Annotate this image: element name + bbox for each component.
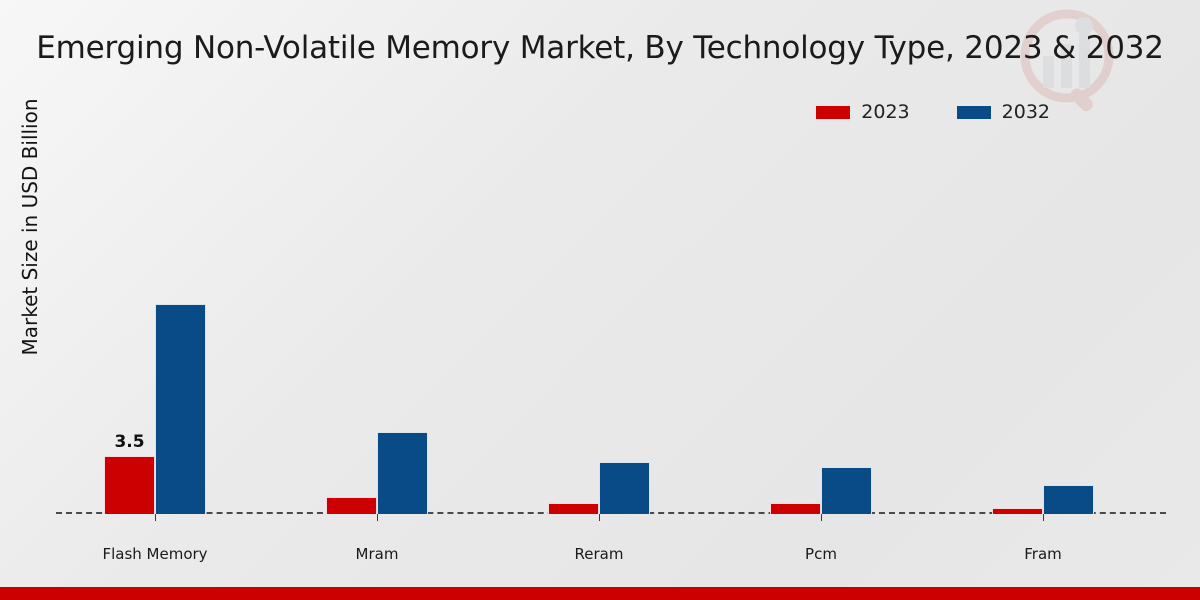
- bar-2023-reram[interactable]: [548, 503, 599, 514]
- x-axis-tick: [599, 514, 600, 521]
- bar-2032-reram[interactable]: [599, 462, 650, 514]
- bar-2023-mram[interactable]: [326, 497, 377, 514]
- x-axis-tick: [1043, 514, 1044, 521]
- bar-2032-fram[interactable]: [1043, 485, 1094, 514]
- bar-pair: [548, 462, 650, 514]
- x-axis-label-mram: Mram: [302, 545, 452, 564]
- x-axis-label-reram: Reram: [524, 545, 674, 564]
- legend-item-2023[interactable]: 2023: [816, 103, 909, 122]
- bar-2023-fram[interactable]: [992, 508, 1043, 514]
- bar-group-fram: Fram: [944, 150, 1166, 514]
- bar-pair: [992, 485, 1094, 514]
- bar-2023-pcm[interactable]: [770, 503, 821, 514]
- legend-item-2032[interactable]: 2032: [957, 103, 1050, 122]
- bar-2032-flash-memory[interactable]: [155, 304, 206, 514]
- bar-group-reram: Reram: [500, 150, 722, 514]
- bar-pair: [770, 467, 872, 514]
- chart-title: Emerging Non-Volatile Memory Market, By …: [0, 30, 1200, 66]
- bar-pair: [326, 432, 428, 514]
- legend-swatch-2023: [816, 106, 850, 119]
- bar-2032-pcm[interactable]: [821, 467, 872, 514]
- bar-pair: 3.5: [104, 304, 206, 514]
- bar-group-mram: Mram: [278, 150, 500, 514]
- bar-2023-flash-memory[interactable]: [104, 456, 155, 514]
- legend-label-2023: 2023: [861, 103, 909, 122]
- legend-swatch-2032: [957, 106, 991, 119]
- bar-group-pcm: Pcm: [722, 150, 944, 514]
- x-axis-label-fram: Fram: [968, 545, 1118, 564]
- x-axis-tick: [377, 514, 378, 521]
- x-axis-label-pcm: Pcm: [746, 545, 896, 564]
- bar-group-flash-memory: 3.5Flash Memory: [56, 150, 278, 514]
- plot-area: 3.5Flash MemoryMramReramPcmFram: [56, 150, 1166, 514]
- bar-value-label: 3.5: [104, 432, 155, 452]
- legend-label-2032: 2032: [1002, 103, 1050, 122]
- x-axis-label-flash-memory: Flash Memory: [80, 545, 230, 564]
- chart-container: Emerging Non-Volatile Memory Market, By …: [0, 0, 1200, 600]
- footer-accent-bar: [0, 587, 1200, 600]
- bar-2032-mram[interactable]: [377, 432, 428, 514]
- x-axis-tick: [155, 514, 156, 521]
- y-axis-title: Market Size in USD Billion: [18, 47, 42, 407]
- x-axis-tick: [821, 514, 822, 521]
- bar-groups: 3.5Flash MemoryMramReramPcmFram: [56, 150, 1166, 514]
- chart-legend: 2023 2032: [816, 103, 1050, 122]
